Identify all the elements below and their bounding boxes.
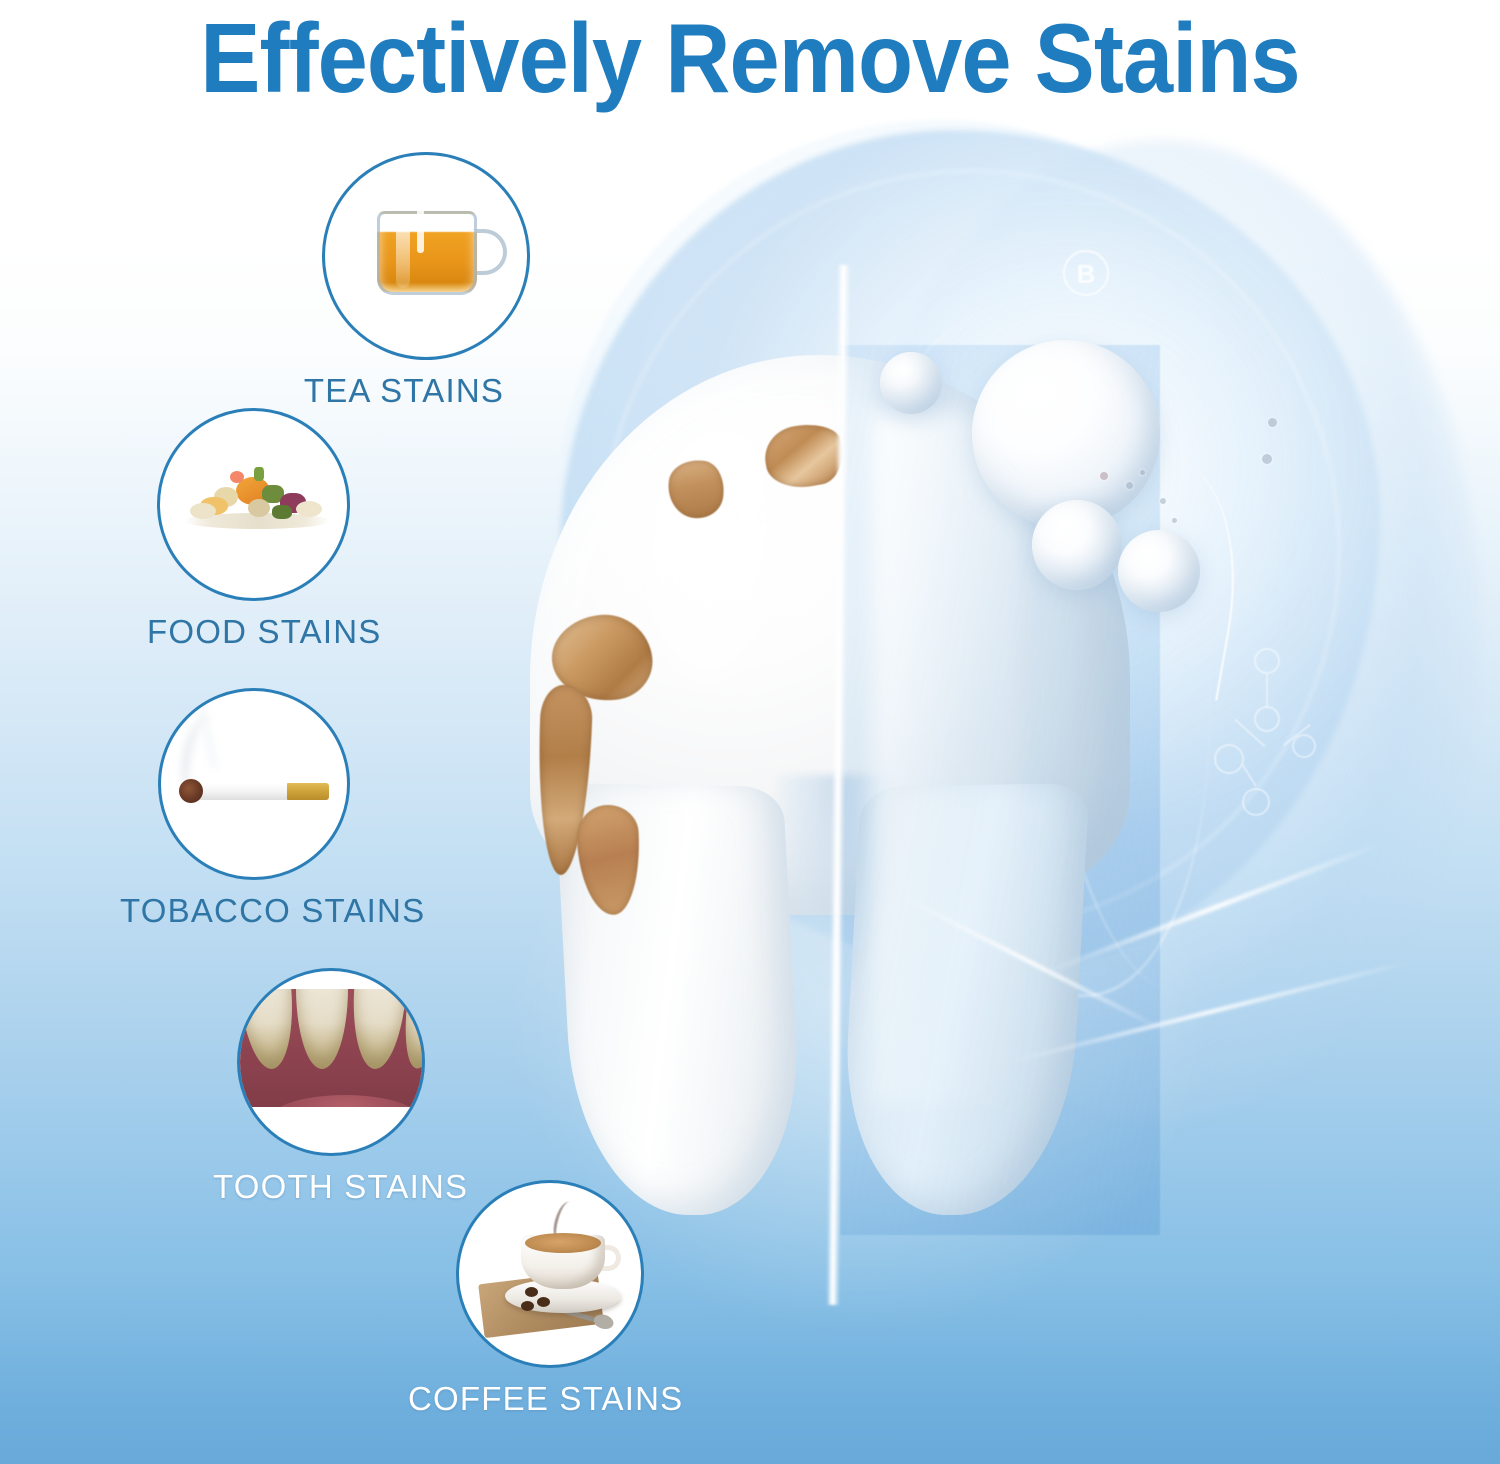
cigarette-ember	[179, 779, 203, 803]
micro-particle-1	[1126, 482, 1133, 489]
badge-circle-tooth	[237, 968, 425, 1156]
badge-label-food: FOOD STAINS	[147, 613, 340, 651]
coffee-bean-2	[537, 1297, 550, 1307]
coffee-bean-3	[521, 1301, 534, 1311]
micro-particle-6	[1268, 418, 1277, 427]
coffee-cup-icon	[459, 1183, 641, 1365]
badge-tea-stains[interactable]: TEA STAINS	[322, 152, 530, 410]
salad-shrimp	[230, 471, 244, 483]
registered-badge-watermark: B	[1063, 250, 1109, 296]
badge-label-coffee: COFFEE STAINS	[408, 1380, 596, 1418]
salad-pile	[184, 473, 330, 531]
incisor-1	[240, 989, 298, 1071]
micro-particle-3	[1160, 498, 1166, 504]
page-title: Effectively Remove Stains	[60, 2, 1440, 114]
salad-plate-icon	[160, 411, 347, 598]
stained-teeth-photo	[240, 989, 425, 1121]
cigarette-paper	[197, 783, 289, 800]
badge-circle-tea	[322, 152, 530, 360]
lit-cigarette-icon	[161, 691, 347, 877]
mug-stirrer	[417, 205, 424, 253]
incisor-2	[296, 989, 348, 1069]
tooth-whitened-sheen	[872, 415, 1022, 1105]
badge-circle-food	[157, 408, 350, 601]
badge-tooth-stains[interactable]: TOOTH STAINS	[237, 968, 425, 1206]
photo-bottom-strip	[240, 1107, 425, 1121]
badge-tobacco-stains[interactable]: TOBACCO STAINS	[158, 688, 350, 930]
salad-greens-2	[272, 505, 292, 519]
coffee-crema	[525, 1233, 601, 1253]
salad-crouton-2	[190, 503, 216, 519]
badge-food-stains[interactable]: FOOD STAINS	[157, 408, 350, 651]
tea-mug-icon	[325, 155, 527, 357]
cigarette-filter	[287, 783, 329, 800]
badge-label-tobacco: TOBACCO STAINS	[120, 892, 312, 930]
micro-particle-7	[1262, 454, 1272, 464]
coffee-bean-1	[525, 1287, 538, 1297]
micro-particle-2	[1140, 470, 1145, 475]
badge-label-tooth: TOOTH STAINS	[213, 1168, 401, 1206]
incisor-3	[349, 989, 408, 1071]
badge-circle-tobacco	[158, 688, 350, 880]
poster-canvas: Effectively Remove Stains	[0, 0, 1500, 1464]
foam-bubble-small-left	[880, 352, 942, 414]
badge-coffee-stains[interactable]: COFFEE STAINS	[456, 1180, 644, 1418]
foam-bubble-medium	[1032, 500, 1122, 590]
micro-particle-4	[1172, 518, 1177, 523]
stained-teeth-icon	[240, 971, 422, 1153]
salad-crouton-3	[296, 501, 322, 517]
badge-label-tea: TEA STAINS	[300, 372, 508, 410]
salad-herb	[254, 467, 264, 481]
mug-handle	[473, 229, 507, 275]
badge-circle-coffee	[456, 1180, 644, 1368]
molecule-watermark	[1196, 648, 1366, 828]
mug-glass	[377, 211, 477, 295]
micro-particle-5	[1100, 472, 1108, 480]
salad-crouton-4	[248, 499, 270, 517]
